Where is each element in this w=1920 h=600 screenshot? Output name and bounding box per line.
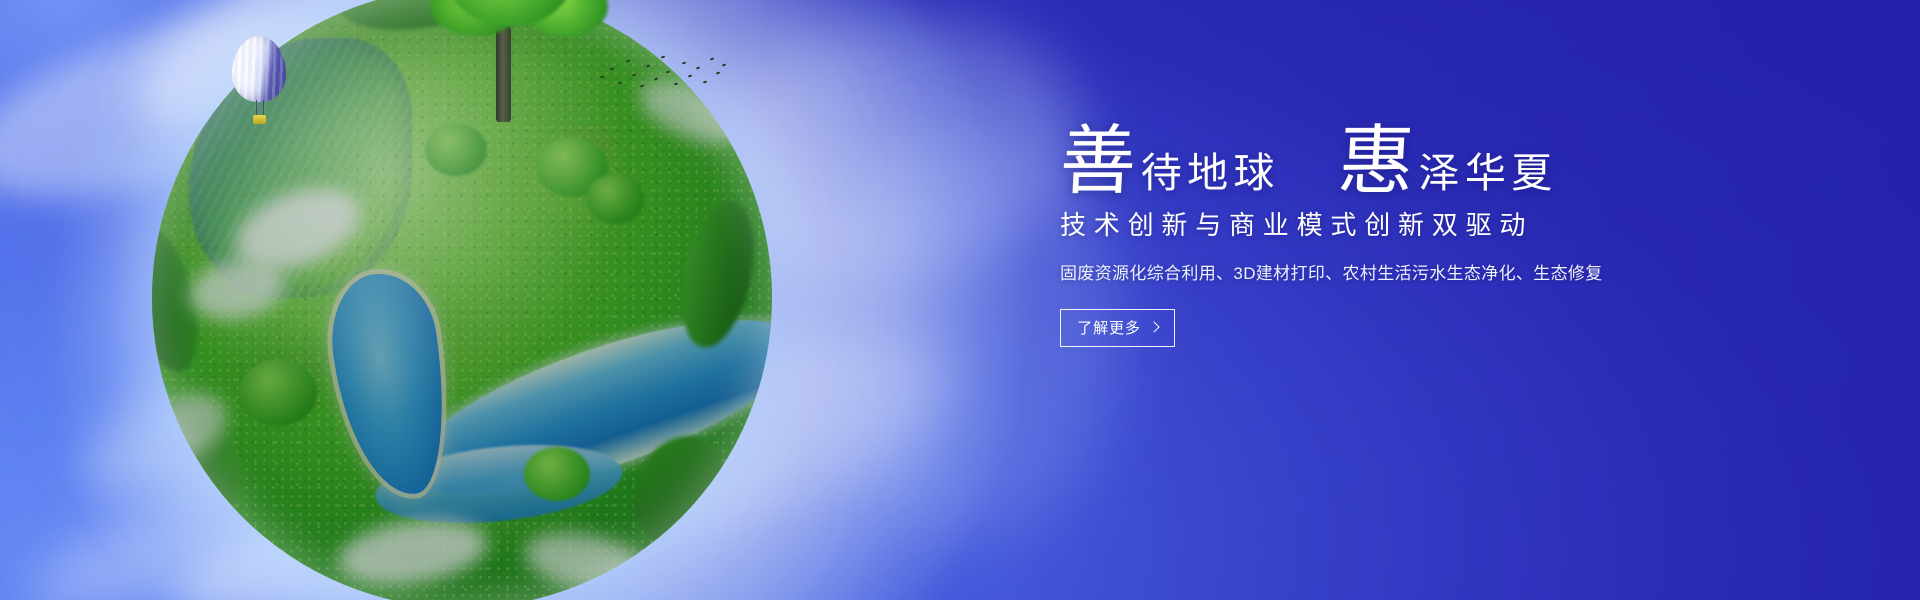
balloon-basket [253, 115, 266, 124]
tree-icon [430, 0, 610, 120]
learn-more-label: 了解更多 [1077, 317, 1141, 338]
birds-flock-icon [598, 52, 728, 96]
hero-subtitle: 技术创新与商业模式创新双驱动 [1060, 205, 1760, 242]
hero-text-block: 善 待地球 惠 泽华夏 技术创新与商业模式创新双驱动 固废资源化综合利用、3D建… [1060, 126, 1760, 347]
chevron-right-icon [1148, 322, 1159, 333]
balloon-envelope [232, 36, 286, 102]
headline-segment-1: 善 待地球 [1060, 126, 1280, 199]
headline-rest-1: 待地球 [1141, 153, 1280, 194]
headline-accent-char-1: 善 [1058, 126, 1139, 199]
headline-segment-2: 惠 泽华夏 [1338, 126, 1558, 199]
page-title: 善 待地球 惠 泽华夏 [1060, 126, 1760, 199]
hero-banner: 善 待地球 惠 泽华夏 技术创新与商业模式创新双驱动 固废资源化综合利用、3D建… [0, 0, 1920, 600]
hot-air-balloon-icon [232, 36, 286, 128]
hero-description: 固废资源化综合利用、3D建材打印、农村生活污水生态净化、生态修复 [1060, 259, 1760, 284]
learn-more-button[interactable]: 了解更多 [1060, 309, 1175, 347]
headline-accent-char-2: 惠 [1336, 126, 1417, 199]
headline-rest-2: 泽华夏 [1419, 153, 1558, 194]
tree-trunk [496, 26, 511, 122]
balloon-ropes [256, 100, 264, 116]
